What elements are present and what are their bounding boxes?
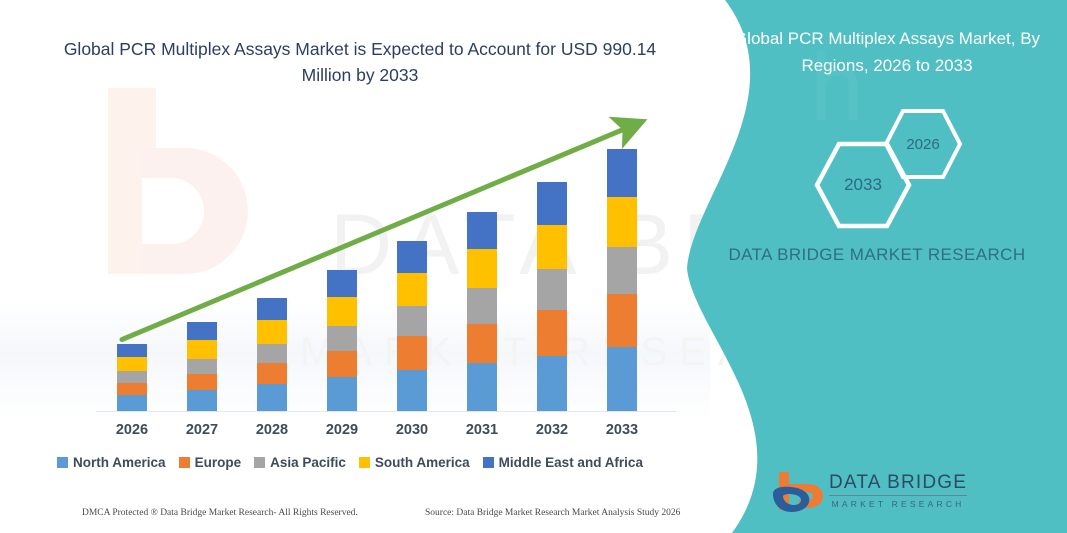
x-axis-label-2030: 2030 [382,422,442,438]
bar-segment [187,340,217,359]
bar-segment [467,363,497,411]
x-axis-label-2029: 2029 [312,422,372,438]
bar-segment [467,212,497,249]
legend-swatch-icon [483,457,494,468]
legend-swatch-icon [359,457,370,468]
infographic-slide: DATA BRIDGE MARKET RESEARCH Global PCR M… [0,0,1067,533]
footer-source: Source: Data Bridge Market Research Mark… [425,508,680,518]
bar-segment [117,371,147,383]
bar-segment [117,357,147,371]
bar-segment [607,149,637,197]
bar-segment [537,310,567,356]
bar-2030 [397,241,427,411]
legend-item[interactable]: North America [57,455,166,470]
logo-mark-icon [767,470,827,516]
bar-segment [327,326,357,351]
bar-segment [397,306,427,336]
bar-segment [537,225,567,269]
x-axis-label-2032: 2032 [522,422,582,438]
footer-copyright: DMCA Protected ® Data Bridge Market Rese… [82,508,358,518]
bar-segment [537,269,567,310]
bar-segment [117,344,147,357]
bar-segment [257,344,287,364]
bar-segment [327,297,357,325]
bar-segment [117,395,147,411]
chart-plot-area [0,0,710,420]
bar-segment [327,377,357,411]
legend-swatch-icon [254,457,265,468]
bar-segment [467,249,497,288]
legend-item[interactable]: Europe [179,455,242,470]
hexagon-2033: 2033 [813,140,913,230]
x-axis-label-2026: 2026 [102,422,162,438]
bar-segment [187,390,217,411]
legend-label: Middle East and Africa [499,455,643,470]
bar-2029 [327,270,357,411]
x-axis-label-2031: 2031 [452,422,512,438]
legend-swatch-icon [57,457,68,468]
bar-segment [187,359,217,374]
x-axis-label-2027: 2027 [172,422,232,438]
footer: DMCA Protected ® Data Bridge Market Rese… [0,505,700,527]
logo-name: DATA BRIDGE [829,472,967,496]
bar-2032 [537,182,567,411]
bar-segment [607,347,637,411]
chart-legend: North AmericaEuropeAsia PacificSouth Ame… [0,455,700,470]
legend-item[interactable]: Middle East and Africa [483,455,643,470]
bar-segment [397,241,427,273]
bar-2027 [187,322,217,411]
panel-brand: DATA BRIDGE MARKET RESEARCH [717,240,1037,270]
bar-segment [327,351,357,378]
legend-label: Asia Pacific [270,455,346,470]
data-bridge-logo: DATA BRIDGE MARKET RESEARCH [767,470,1037,520]
legend-label: North America [73,455,166,470]
logo-text: DATA BRIDGE MARKET RESEARCH [829,472,967,509]
bar-segment [397,273,427,307]
legend-label: South America [375,455,470,470]
legend-item[interactable]: South America [359,455,470,470]
bar-segment [327,270,357,298]
x-axis-line [96,411,676,412]
bar-2026 [117,344,147,411]
legend-swatch-icon [179,457,190,468]
bar-segment [117,383,147,395]
bar-segment [537,182,567,225]
bar-segment [467,288,497,324]
bar-segment [257,320,287,343]
bar-segment [467,324,497,363]
x-axis-label-2028: 2028 [242,422,302,438]
bar-2028 [257,298,287,411]
bar-segment [257,363,287,384]
bar-segment [607,197,637,247]
panel-title: Global PCR Multiplex Assays Market, By R… [727,25,1047,79]
bar-2033 [607,149,637,411]
bar-segment [607,247,637,294]
bar-segment [187,374,217,390]
legend-item[interactable]: Asia Pacific [254,455,346,470]
bar-segment [187,322,217,340]
logo-subtitle: MARKET RESEARCH [829,499,967,509]
teal-panel-content: Global PCR Multiplex Assays Market, By R… [687,0,1067,533]
bar-segment [607,294,637,347]
x-axis-labels: 20262027202820292030203120322033 [0,422,710,446]
bar-segment [257,384,287,411]
bar-segment [257,298,287,320]
bar-segment [397,370,427,411]
hexagon-2026-label: 2026 [906,136,939,153]
bar-segment [537,356,567,411]
teal-side-panel: Global PCR Multiplex Assays Market, By R… [687,0,1067,533]
x-axis-label-2033: 2033 [592,422,652,438]
bar-segment [397,336,427,370]
bar-2031 [467,212,497,411]
hexagon-2033-label: 2033 [844,175,882,195]
legend-label: Europe [195,455,242,470]
